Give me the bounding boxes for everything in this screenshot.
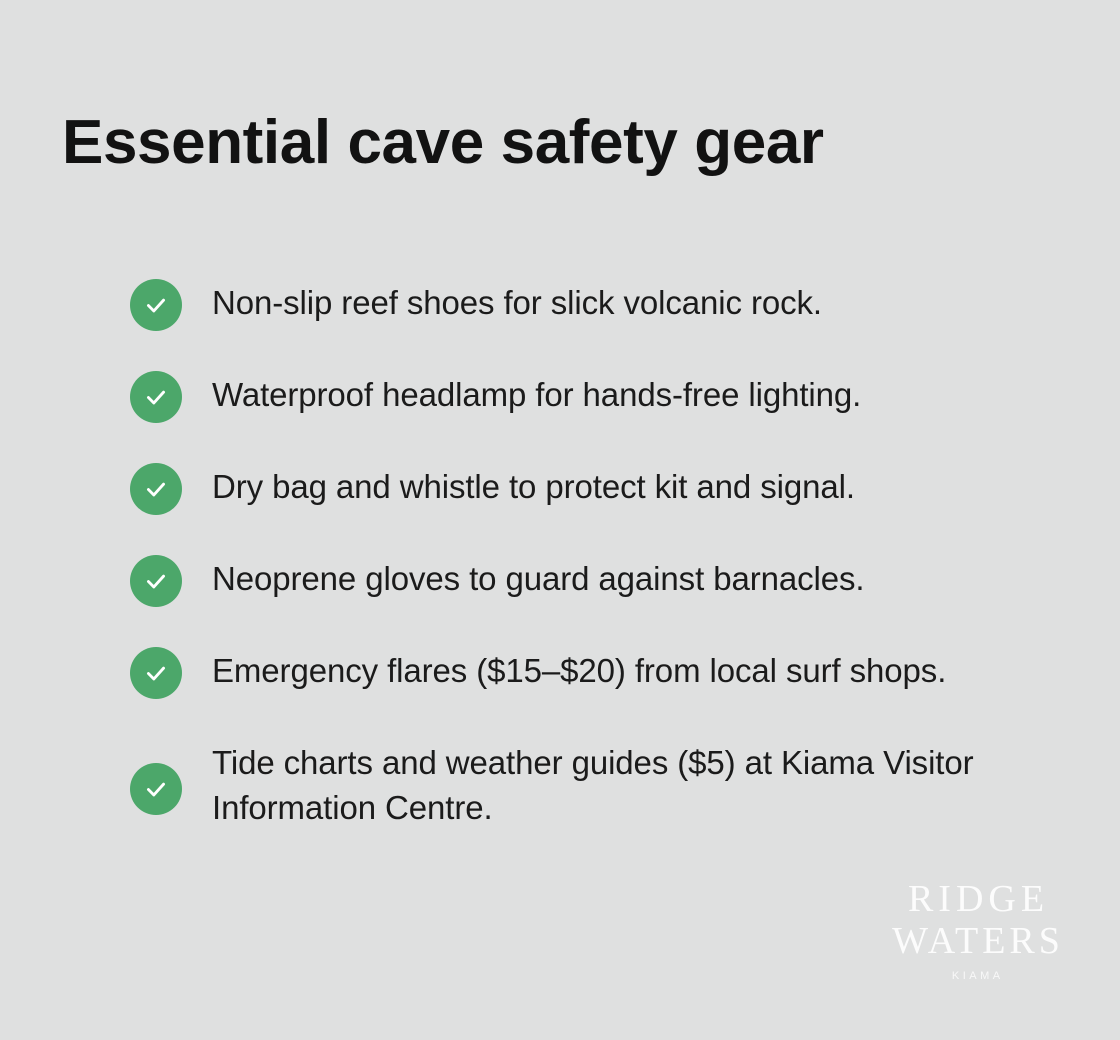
check-icon — [130, 763, 182, 815]
list-item: Neoprene gloves to guard against barnacl… — [130, 554, 1070, 607]
checklist: Non-slip reef shoes for slick volcanic r… — [130, 278, 1070, 831]
list-item: Tide charts and weather guides ($5) at K… — [130, 738, 1070, 831]
slide-canvas: Essential cave safety gear Non-slip reef… — [0, 0, 1120, 1040]
list-item-label: Non-slip reef shoes for slick volcanic r… — [182, 278, 1070, 326]
check-icon — [130, 555, 182, 607]
page-title: Essential cave safety gear — [62, 108, 1042, 177]
brand-line-ridge: RIDGE — [886, 880, 1066, 918]
list-item-label: Emergency flares ($15–$20) from local su… — [182, 646, 1070, 694]
list-item: Emergency flares ($15–$20) from local su… — [130, 646, 1070, 699]
brand-line-waters: WATERS — [886, 922, 1066, 960]
list-item-label: Dry bag and whistle to protect kit and s… — [182, 462, 1070, 510]
check-icon — [130, 371, 182, 423]
list-item-label: Waterproof headlamp for hands-free light… — [182, 370, 1070, 418]
check-icon — [130, 279, 182, 331]
brand-logo: RIDGE WATERS KIAMA — [886, 880, 1066, 982]
list-item: Dry bag and whistle to protect kit and s… — [130, 462, 1070, 515]
list-item-label: Tide charts and weather guides ($5) at K… — [182, 738, 1070, 831]
list-item: Non-slip reef shoes for slick volcanic r… — [130, 278, 1070, 331]
list-item: Waterproof headlamp for hands-free light… — [130, 370, 1070, 423]
brand-sub-kiama: KIAMA — [886, 970, 1066, 982]
list-item-label: Neoprene gloves to guard against barnacl… — [182, 554, 1070, 602]
check-icon — [130, 647, 182, 699]
check-icon — [130, 463, 182, 515]
